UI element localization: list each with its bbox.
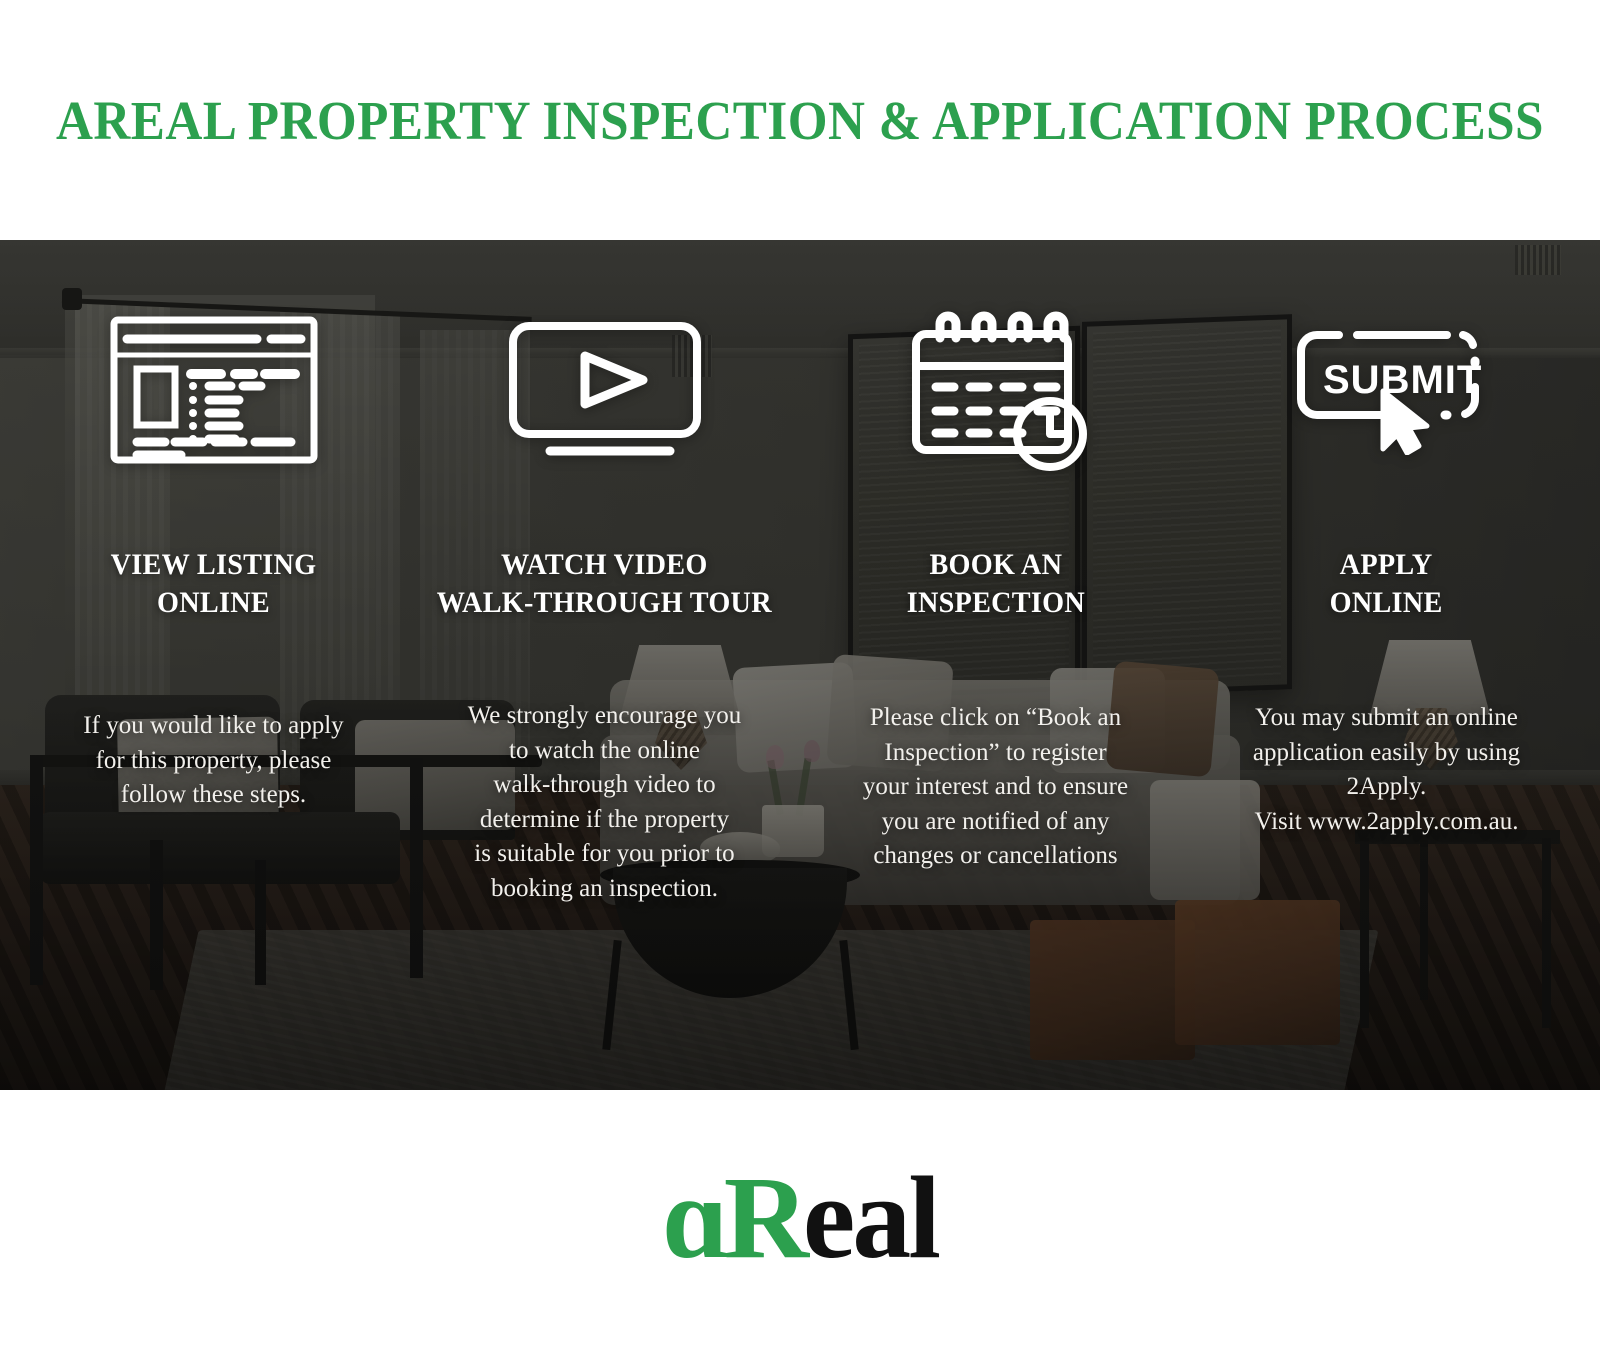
listing-window-icon xyxy=(18,240,409,540)
submit-button-cursor-icon: SUBMIT xyxy=(1191,240,1582,540)
step-apply-online: SUBMIT APPLY ONLINE You may submit an on… xyxy=(1191,240,1582,1090)
video-play-monitor-icon xyxy=(409,240,800,540)
logo-mark-green: ɑR xyxy=(662,1159,803,1277)
areal-logo: ɑR eal xyxy=(662,1159,938,1277)
step-heading: BOOK AN INSPECTION xyxy=(906,546,1084,621)
hero-photo: VIEW LISTING ONLINE If you would like to… xyxy=(0,240,1600,1090)
title-band: AREAL PROPERTY INSPECTION & APPLICATION … xyxy=(0,0,1600,240)
step-heading: VIEW LISTING ONLINE xyxy=(111,546,317,621)
step-body: We strongly encourage you to watch the o… xyxy=(454,699,756,906)
step-watch-video-walkthrough: WATCH VIDEO WALK-THROUGH TOUR We strongl… xyxy=(409,240,800,1090)
step-body: Please click on “Book an Inspection” to … xyxy=(849,701,1142,874)
page-title: AREAL PROPERTY INSPECTION & APPLICATION … xyxy=(56,93,1544,148)
calendar-clock-icon xyxy=(800,240,1191,540)
submit-label: SUBMIT xyxy=(1323,358,1482,402)
process-steps: VIEW LISTING ONLINE If you would like to… xyxy=(0,240,1600,1090)
step-view-listing-online: VIEW LISTING ONLINE If you would like to… xyxy=(18,240,409,1090)
step-book-an-inspection: BOOK AN INSPECTION Please click on “Book… xyxy=(800,240,1191,1090)
step-body: If you would like to apply for this prop… xyxy=(69,709,357,813)
logo-mark-black: eal xyxy=(803,1159,938,1277)
footer: ɑR eal xyxy=(0,1090,1600,1345)
infographic-page: AREAL PROPERTY INSPECTION & APPLICATION … xyxy=(0,0,1600,1345)
step-heading: WATCH VIDEO WALK-THROUGH TOUR xyxy=(437,546,772,621)
step-heading: APPLY ONLINE xyxy=(1330,546,1443,621)
step-body: You may submit an online application eas… xyxy=(1239,701,1534,839)
